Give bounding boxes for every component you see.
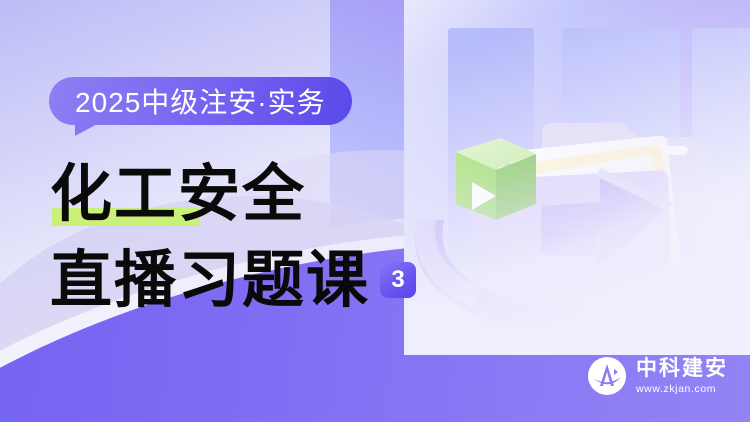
course-tag-tail-icon bbox=[75, 122, 101, 136]
episode-badge: 3 bbox=[380, 262, 416, 298]
headline-line-2-text: 直播习题课 bbox=[50, 249, 370, 311]
brand-url: www.zkjan.com bbox=[636, 384, 728, 395]
brand-logo: 中科建安 www.zkjan.com bbox=[587, 356, 728, 396]
course-tag: 2025中级注安·实务 bbox=[49, 77, 352, 125]
zk-circle-logo-icon bbox=[587, 356, 627, 396]
brand-logo-text: 中科建安 www.zkjan.com bbox=[636, 358, 728, 395]
headline-line-2: 直播习题课 3 bbox=[50, 244, 470, 316]
brand-name: 中科建安 bbox=[636, 356, 728, 380]
headline-block: 化工安全 直播习题课 3 bbox=[50, 158, 470, 316]
course-tag-label: 2025中级注安·实务 bbox=[75, 81, 326, 121]
headline-line-1: 化工安全 bbox=[50, 158, 470, 230]
course-banner: 2025中级注安·实务 化工安全 直播习题课 3 中科建安 www.zkjan.… bbox=[0, 0, 750, 422]
headline-line-1-text: 化工安全 bbox=[50, 163, 306, 225]
course-tag-pill: 2025中级注安·实务 bbox=[49, 77, 352, 125]
